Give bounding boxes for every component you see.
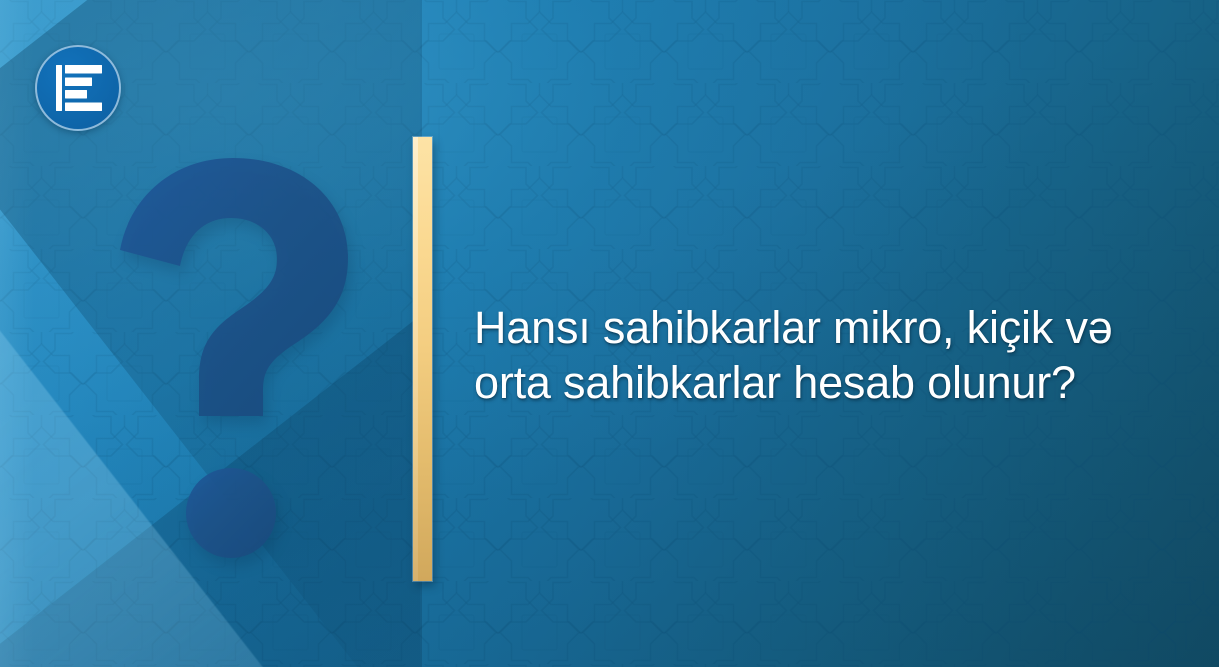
gold-accent-bar bbox=[413, 137, 432, 581]
brand-logo[interactable] bbox=[35, 45, 121, 131]
question-mark-icon bbox=[100, 158, 368, 558]
question-text: Hansı sahibkarlar mikro, kiçik və orta s… bbox=[474, 300, 1124, 410]
document-lines-logo-icon bbox=[56, 65, 102, 111]
slide-canvas: Hansı sahibkarlar mikro, kiçik və orta s… bbox=[0, 0, 1219, 667]
